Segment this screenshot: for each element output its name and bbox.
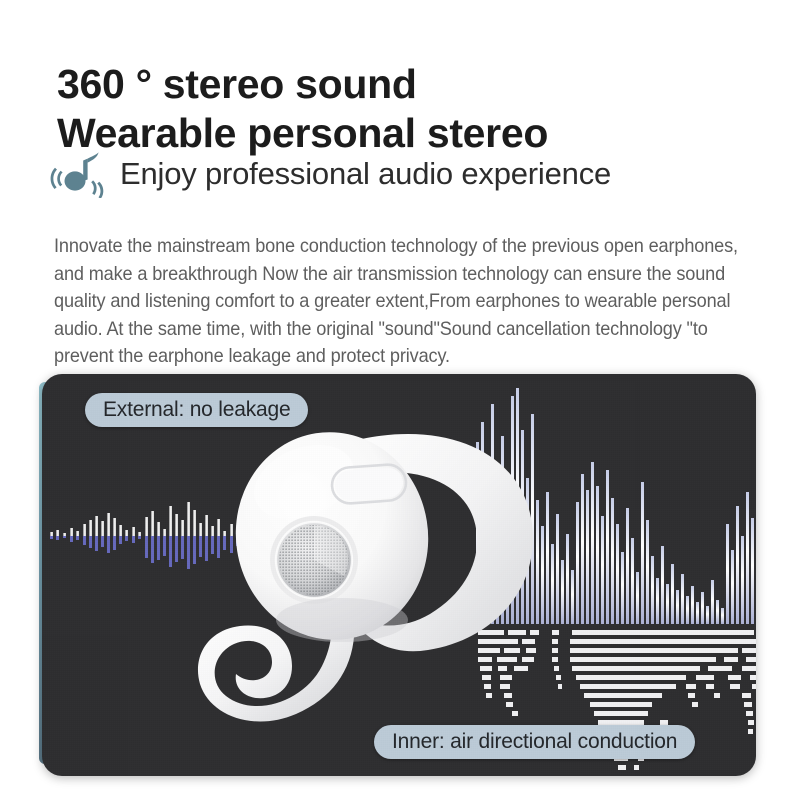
audio-waveform-visualization <box>42 374 756 776</box>
body-paragraph: Innovate the mainstream bone conduction … <box>54 233 740 371</box>
music-note-sound-waves-icon <box>50 150 106 198</box>
product-panel-surface: External: no leakage Inner: air directio… <box>42 374 756 776</box>
product-panel: External: no leakage Inner: air directio… <box>42 374 756 776</box>
subtitle-row: Enjoy professional audio experience <box>50 150 611 198</box>
left-waveform <box>50 502 309 569</box>
page-title: 360 ° stereo sound Wearable personal ste… <box>57 60 757 158</box>
promo-page: 360 ° stereo sound Wearable personal ste… <box>0 0 800 800</box>
subtitle-text: Enjoy professional audio experience <box>120 156 611 192</box>
callout-external-no-leakage: External: no leakage <box>85 393 308 427</box>
callout-inner-air-directional-conduction: Inner: air directional conduction <box>374 725 695 759</box>
right-spectrum-spikes <box>476 388 756 624</box>
headline-line-1: 360 ° stereo sound <box>57 60 757 109</box>
